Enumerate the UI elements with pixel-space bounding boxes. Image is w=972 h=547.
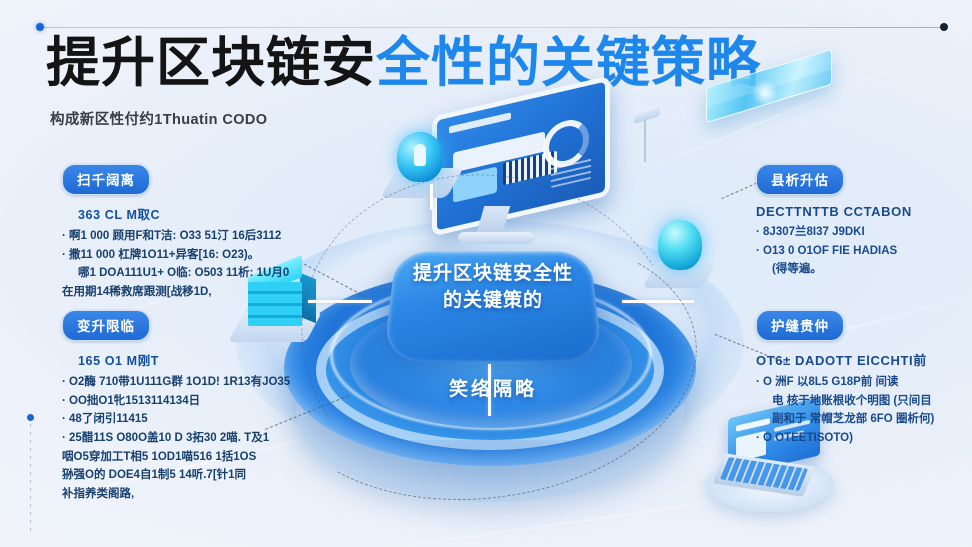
top-rule-right-dot <box>940 23 948 31</box>
shield-icon <box>658 220 702 270</box>
list-bottom-left: O2酶 710带1U111G群 1O1D! 1R13有JO35 OO拙O1牝15… <box>62 373 290 503</box>
badge-top-left[interactable]: 扫千阔离 <box>62 164 150 195</box>
antenna-pole <box>626 108 666 162</box>
left-dotted-rule <box>30 424 31 532</box>
list-item: 在用期14稀救席跟测[战移1D, <box>62 283 289 302</box>
top-divider-rule <box>44 27 944 28</box>
list-item: O 洲F 以8L5 G18P前 间读 <box>756 373 934 392</box>
list-item: 48了闭引11415 <box>62 410 290 429</box>
top-rule-left-dot <box>36 23 44 31</box>
list-bottom-right: O 洲F 以8L5 G18P前 间读 电 核于地账根收个明图 (只间目 副和于 … <box>756 373 934 448</box>
heading-bottom-left: 165 O1 M刚T <box>78 350 290 369</box>
list-item: 啊1 000 顾用F和T洁: O33 51汀 16后3112 <box>62 227 289 246</box>
list-item: 25醋11S O80O盖10 D 3拓30 2喵. T及1 <box>62 429 290 448</box>
info-block-bottom-right: 护缝贵仲 OT6± DADOTT ElCCHTI前 O 洲F 以8L5 G18P… <box>756 310 934 448</box>
info-block-top-right: 县析升估 DECTTNTTB CCTABON 8J307兰8I37 J9DKI … <box>756 164 912 279</box>
badge-top-right[interactable]: 县析升估 <box>756 164 844 195</box>
badge-bottom-left[interactable]: 变升限临 <box>62 310 150 341</box>
list-item: O2酶 710带1U111G群 1O1D! 1R13有JO35 <box>62 373 290 392</box>
monitor-header-bar <box>449 112 511 133</box>
list-item: (得等遍。 <box>756 260 912 279</box>
list-item: 哪1 DOA111U1+ O临: O503 11析: 1U月0 <box>62 264 289 283</box>
list-item: 撒11 000 杠牌1O11+异客[16: O23)。 <box>62 246 289 265</box>
list-item: OO拙O1牝1513114134日 <box>62 392 290 411</box>
list-item: 咽O5穿加工T相5 1OD1喵516 1括1OS <box>62 448 290 467</box>
list-item: 电 核于地账根收个明图 (只间目 <box>756 392 934 411</box>
keyhole-icon <box>414 144 426 166</box>
list-item: 8J307兰8I37 J9DKI <box>756 223 912 242</box>
list-item: 副和于 常帽芝龙部 6FO 圈析何) <box>756 410 934 429</box>
list-top-right: 8J307兰8I37 J9DKI O13 0 O1OF FIE HADIAS (… <box>756 223 912 279</box>
glass-slab-highlight <box>752 80 778 106</box>
info-block-bottom-left: 变升限临 165 O1 M刚T O2酶 710带1U111G群 1O1D! 1R… <box>62 310 290 503</box>
list-item: O13 0 O1OF FIE HADIAS <box>756 242 912 261</box>
glass-slab <box>706 58 838 136</box>
list-item: 补指养类阁路, <box>62 485 290 504</box>
list-top-left: 啊1 000 顾用F和T洁: O33 51汀 16后3112 撒11 000 杠… <box>62 227 289 302</box>
heading-top-right: DECTTNTTB CCTABON <box>756 204 912 219</box>
list-item: O OTEETISOTO) <box>756 429 934 448</box>
infographic-poster: 提升区块链安全性的关键策略 构成新区性付约1Thuatin CODO <box>0 0 972 547</box>
badge-bottom-right[interactable]: 护缝贵仲 <box>756 310 844 341</box>
left-rule-dot <box>27 414 34 421</box>
antenna-pole-stick <box>644 116 646 162</box>
heading-bottom-right: OT6± DADOTT ElCCHTI前 <box>756 350 934 369</box>
list-item: 狲强O的 DOE4自1制5 14听.7[针1同 <box>62 466 290 485</box>
heading-top-left: 363 CL M取C <box>78 204 289 223</box>
info-block-top-left: 扫千阔离 363 CL M取C 啊1 000 顾用F和T洁: O33 51汀 1… <box>62 164 289 302</box>
